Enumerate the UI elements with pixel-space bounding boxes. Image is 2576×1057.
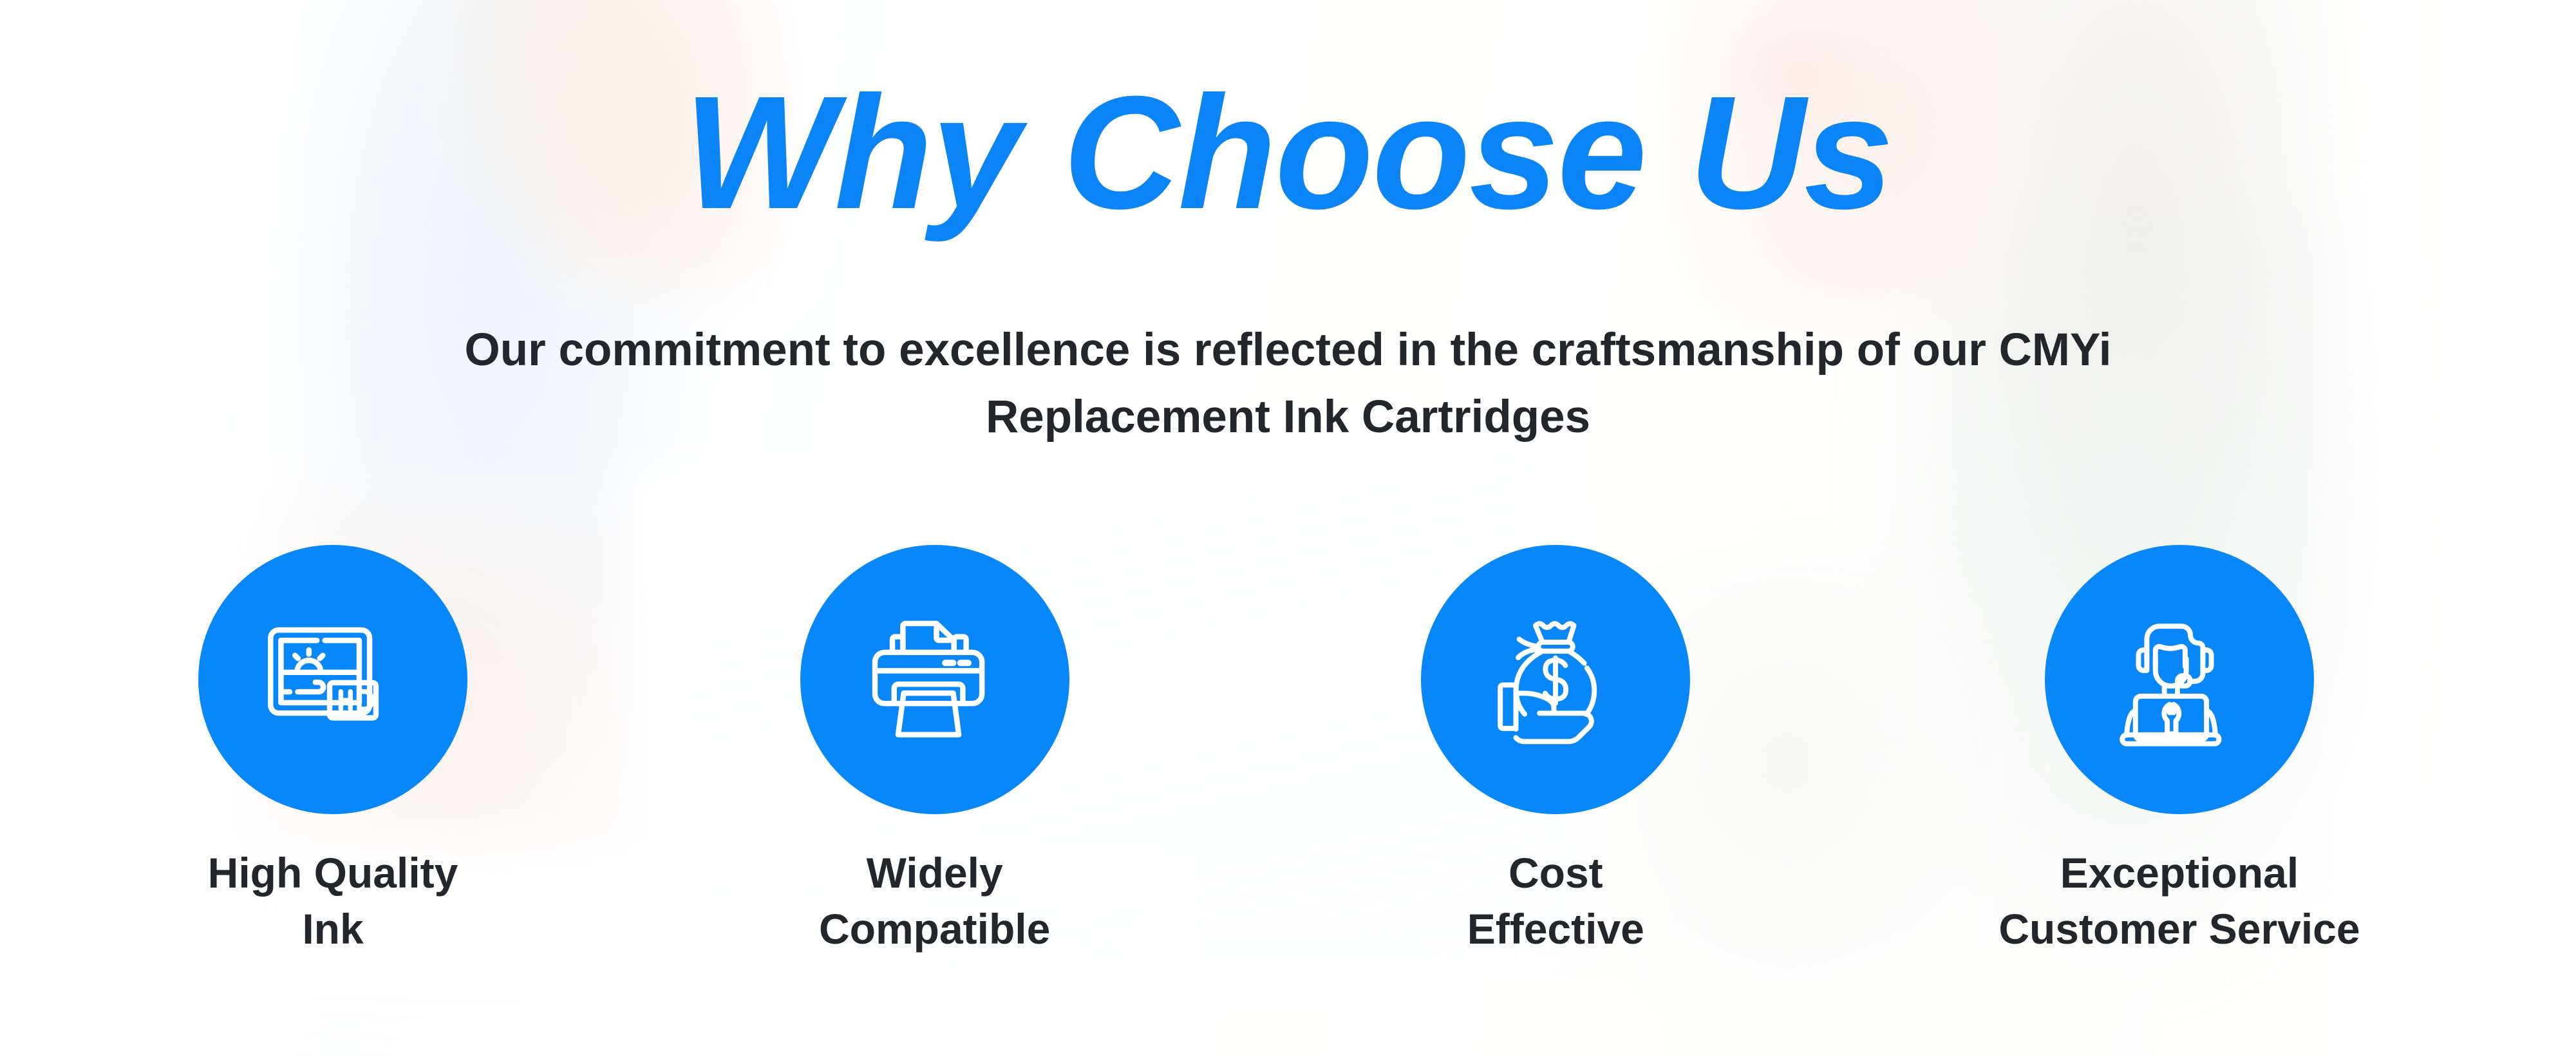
icon-badge-cost-effective (1421, 545, 1690, 814)
icon-badge-customer-service (2045, 545, 2314, 814)
money-bag-in-hand-icon (1476, 600, 1635, 759)
banner-content: Why Choose Us Our commitment to excellen… (0, 0, 2576, 1057)
icon-badge-high-quality-ink (198, 545, 467, 814)
feature-item-customer-service: Exceptional Customer Service (1912, 545, 2447, 957)
feature-item-widely-compatible: Widely Compatible (668, 545, 1202, 957)
why-choose-us-banner: Why Choose Us Our commitment to excellen… (0, 0, 2576, 1057)
feature-label: Widely Compatible (819, 845, 1050, 957)
feature-list: High Quality Ink (116, 545, 2447, 957)
banner-subtitle: Our commitment to excellence is reflecte… (335, 317, 2241, 451)
feature-item-cost-effective: Cost Effective (1288, 545, 1823, 957)
hd-image-quality-icon (253, 600, 413, 759)
feature-label: High Quality Ink (208, 845, 458, 957)
feature-item-high-quality-ink: High Quality Ink (66, 545, 600, 957)
feature-label: Exceptional Customer Service (1998, 845, 2360, 957)
page-title: Why Choose Us (0, 72, 2576, 233)
icon-badge-widely-compatible (800, 545, 1069, 814)
feature-label: Cost Effective (1467, 845, 1644, 957)
printer-icon (855, 600, 1015, 759)
support-agent-headset-icon (2100, 600, 2259, 759)
